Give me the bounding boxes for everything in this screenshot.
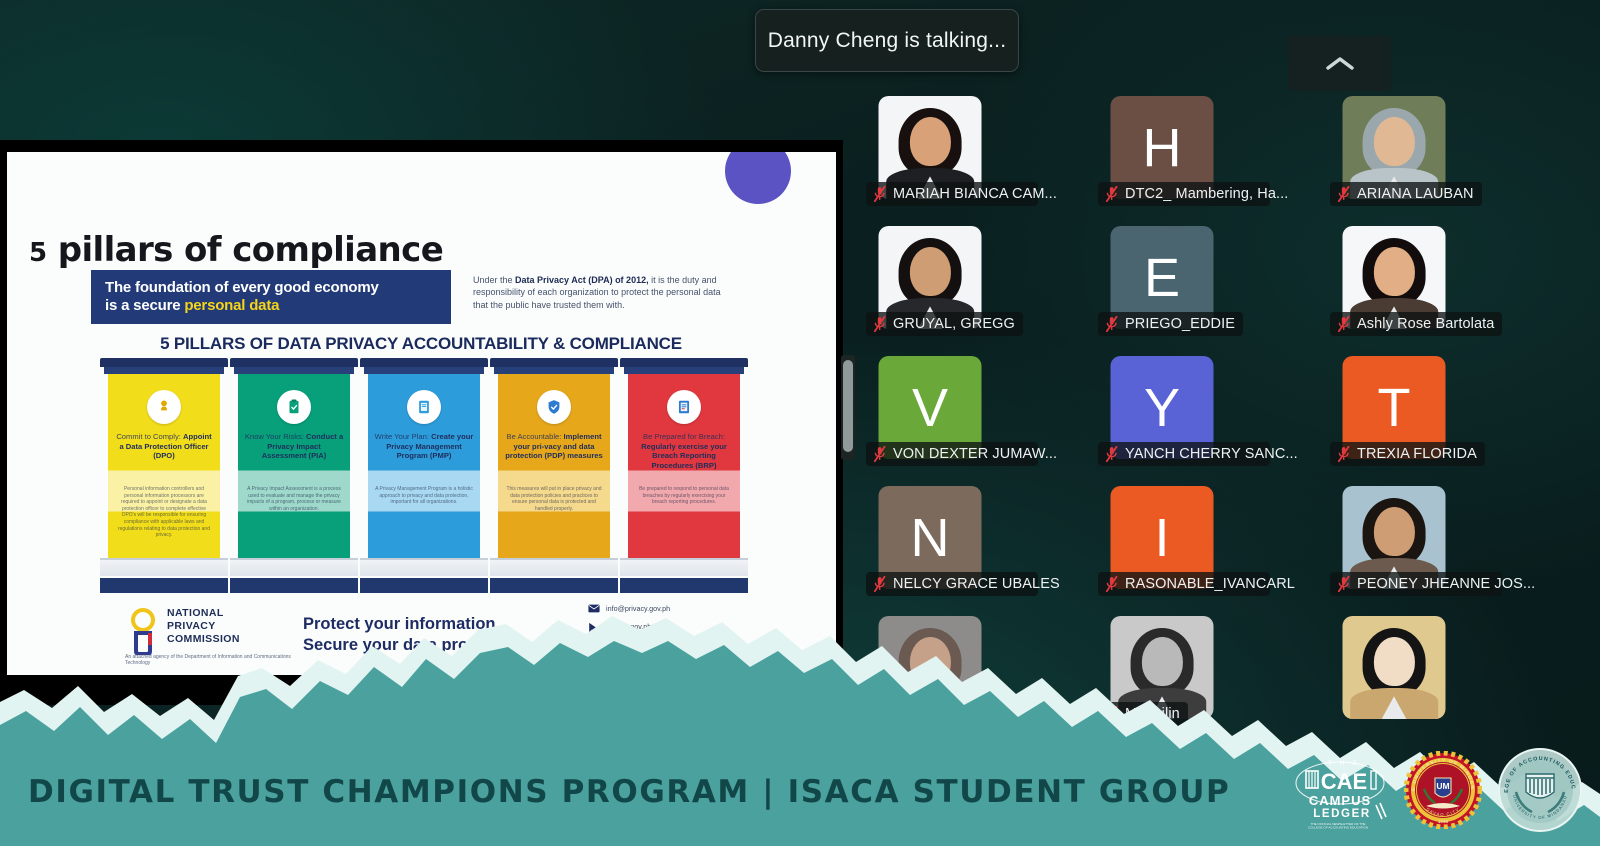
slide-banner: The foundation of every good economy is … (91, 270, 451, 324)
pillar-cap (100, 358, 228, 367)
collapse-gallery-button[interactable] (1288, 36, 1391, 91)
pillar-shaft: Commit to Comply: Appoint a Data Protect… (108, 374, 220, 560)
participant-tile[interactable]: NNELCY GRACE UBALES (866, 486, 994, 596)
pillars-container: Commit to Comply: Appoint a Data Protect… (105, 358, 755, 576)
pillar-base (360, 558, 488, 576)
participant-tile[interactable]: VVON DEXTER JUMAW... (866, 356, 994, 466)
pillar-pre-label: Write Your Plan: (375, 432, 429, 441)
college-of-accounting-education-seal: COLLEGE OF ACCOUNTING EDUCATION UNIVERSI… (1498, 748, 1582, 832)
banner-line-2: is a secure personal data (105, 297, 437, 315)
pillar-pre-label: Be Prepared for Breach: (643, 432, 725, 441)
pillar-cap-lower (234, 367, 354, 374)
participant-name-label: TREXIA FLORIDA (1357, 446, 1477, 462)
slide-decorative-circle (725, 152, 791, 204)
cae-ledger-text: LEDGER (1313, 808, 1371, 820)
screenshot-root: Danny Cheng is talking... 5 pillars of c… (0, 0, 1600, 846)
participant-tile[interactable]: ARIANA LAUBAN (1330, 96, 1458, 206)
university-of-mindanao-seal: THE UNIVERSITY OF MINDANAO DAVAO CITY UM… (1404, 751, 1482, 829)
participant-tile[interactable]: YYANCH CHERRY SANC... (1098, 356, 1226, 466)
participant-name-label: Ashly Rose Bartolata (1357, 316, 1494, 332)
cae-campus-ledger-logo: T H E CAE CAMPUS LEDGER THE OFFICIAL NEW… (1292, 749, 1388, 831)
participant-tile[interactable]: GRUYAL, GREGG (866, 226, 994, 336)
pillar-text: Be Accountable: Implement your pri-vacy … (504, 432, 604, 461)
pillar-shaft: Write Your Plan: Create your Privacy Man… (368, 374, 480, 560)
pillar-cap-lower (624, 367, 744, 374)
pillar-cap-lower (364, 367, 484, 374)
chevron-up-icon (1323, 54, 1357, 74)
person-badge-icon (147, 390, 181, 424)
pillar-shaft: Know Your Risks: Conduct a Privacy Impac… (238, 374, 350, 560)
participant-name-bar: YANCH CHERRY SANC... (1098, 442, 1270, 466)
clipboard-check-icon (277, 390, 311, 424)
pillar-main-label: Regularly exercise your Breach Reporting… (641, 442, 727, 470)
banner-line-1: The foundation of every good economy (105, 279, 437, 297)
cae-main-text: CAE (1321, 769, 1367, 794)
um-year-text: 1946 (1438, 819, 1449, 824)
participant-name-bar: VON DEXTER JUMAW... (866, 442, 1038, 466)
cae-tagline-2: COLLEGE OF ACCOUNTING EDUCATION (1308, 825, 1368, 829)
dpa-note-bold: Data Privacy Act (DPA) of 2012, (515, 275, 649, 285)
participant-tile[interactable]: IRASONABLE_IVANCARL (1098, 486, 1226, 596)
pillars-heading: 5 PILLARS OF DATA PRIVACY ACCOUNTABILITY… (91, 334, 751, 354)
pillar-text: Know Your Risks: Conduct a Privacy Impac… (244, 432, 344, 461)
participant-name-label: YANCH CHERRY SANC... (1125, 446, 1298, 462)
cae-campus-text: CAMPUS (1309, 793, 1371, 808)
pillar-shaft: Be Prepared for Breach: Regularly exerci… (628, 374, 740, 560)
cae-the-text: T H E (1328, 760, 1360, 767)
participant-name-bar: PRIEGO_EDDIE (1098, 312, 1243, 336)
pillar-pre-label: Know Your Risks: (245, 432, 304, 441)
participant-name-label: MARIAH BIANCA CAM... (893, 186, 1057, 202)
pillar-pre-label: Commit to Comply: (116, 432, 181, 441)
pillar-description: A Privacy Management Program is a holist… (375, 486, 473, 506)
pillar-cap-lower (494, 367, 614, 374)
mic-muted-icon (1336, 186, 1351, 202)
mic-muted-icon (1336, 446, 1351, 462)
participant-name-bar: MARIAH BIANCA CAM... (866, 182, 1038, 206)
mic-muted-icon (1104, 186, 1119, 202)
thumbnail-face (909, 247, 950, 296)
pillar-shaft: Be Accountable: Implement your pri-vacy … (498, 374, 610, 560)
mic-muted-icon (872, 186, 887, 202)
pillar-4: Be Accountable: Implement your pri-vacy … (495, 358, 613, 576)
banner-line-2-highlight: personal data (184, 297, 279, 314)
thumbnail-face (909, 117, 950, 166)
participant-name-bar: TREXIA FLORIDA (1330, 442, 1485, 466)
thumbnail-face (1373, 507, 1414, 556)
shield-icon (537, 390, 571, 424)
footer-band: DIGITAL TRUST CHAMPIONS PROGRAM | ISACA … (0, 726, 1600, 846)
participant-name-label: VON DEXTER JUMAW... (893, 446, 1057, 462)
pillar-cap (490, 358, 618, 367)
um-center-text: UM (1436, 781, 1449, 791)
thumbnail-face (1373, 247, 1414, 296)
mic-muted-icon (1104, 316, 1119, 332)
footer-title: DIGITAL TRUST CHAMPIONS PROGRAM | ISACA … (28, 774, 1230, 810)
active-speaker-label: Danny Cheng is talking... (768, 29, 1006, 53)
um-seal-mark: THE UNIVERSITY OF MINDANAO DAVAO CITY UM… (1404, 751, 1482, 829)
participant-name-bar: DTC2_ Mambering, Ha... (1098, 182, 1270, 206)
active-speaker-indicator: Danny Cheng is talking... (755, 9, 1019, 72)
pillar-description: This measures will put in place privacy … (505, 486, 603, 512)
pillar-cap-lower (104, 367, 224, 374)
participant-tile[interactable]: HDTC2_ Mambering, Ha... (1098, 96, 1226, 206)
pillar-5: Be Prepared for Breach: Regularly exerci… (625, 358, 743, 576)
pillar-base (100, 558, 228, 576)
pillar-description: Personal information controllers and per… (115, 486, 213, 539)
pillar-text: Commit to Comply: Appoint a Data Protect… (114, 432, 214, 461)
participant-tile[interactable]: TTREXIA FLORIDA (1330, 356, 1458, 466)
participant-name-bar: Ashly Rose Bartolata (1330, 312, 1502, 336)
coae-seal-mark: COLLEGE OF ACCOUNTING EDUCATION UNIVERSI… (1498, 748, 1582, 832)
dpa-note: Under the Data Privacy Act (DPA) of 2012… (473, 274, 723, 311)
slide-title-number: 5 (29, 238, 47, 268)
participant-name-bar: GRUYAL, GREGG (866, 312, 1023, 336)
pillar-3: Write Your Plan: Create your Privacy Man… (365, 358, 483, 576)
pillar-description: Be prepared to respond to personal data … (635, 486, 733, 506)
slide-title-text: pillars of compliance (47, 230, 444, 270)
mic-muted-icon (872, 316, 887, 332)
pillar-1: Commit to Comply: Appoint a Data Protect… (105, 358, 223, 576)
pillar-text: Be Prepared for Breach: Regularly exerci… (634, 432, 734, 470)
pillar-base (620, 558, 748, 576)
participant-name-label: GRUYAL, GREGG (893, 316, 1015, 332)
pillar-base (490, 558, 618, 576)
participant-name-label: PRIEGO_EDDIE (1125, 316, 1235, 332)
pillar-pre-label: Be Accountable: (507, 432, 562, 441)
participant-name-bar: ARIANA LAUBAN (1330, 182, 1482, 206)
shared-screen-scrollbar-thumb[interactable] (843, 360, 853, 452)
participant-tile[interactable]: Ashly Rose Bartolata (1330, 226, 1458, 336)
pillar-description: A Privacy Impact Assessment is a process… (245, 486, 343, 512)
slide-title: 5 pillars of compliance (29, 230, 443, 270)
dpa-note-pre: Under the (473, 275, 515, 285)
banner-line-2-pre: is a secure (105, 297, 184, 314)
mic-muted-icon (1336, 316, 1351, 332)
participant-tile[interactable]: MARIAH BIANCA CAM... (866, 96, 994, 206)
pillar-text: Write Your Plan: Create your Privacy Man… (374, 432, 474, 461)
pillar-cap (230, 358, 358, 367)
pillar-base (230, 558, 358, 576)
document-icon (407, 390, 441, 424)
participant-tile[interactable]: PEONEY JHEANNE JOS... (1330, 486, 1458, 596)
footer-logos: T H E CAE CAMPUS LEDGER THE OFFICIAL NEW… (1292, 748, 1582, 832)
participant-name-label: ARIANA LAUBAN (1357, 186, 1474, 202)
pillar-2: Know Your Risks: Conduct a Privacy Impac… (235, 358, 353, 576)
report-icon (667, 390, 701, 424)
cae-campus-ledger-mark: T H E CAE CAMPUS LEDGER THE OFFICIAL NEW… (1292, 749, 1388, 831)
pillar-cap (360, 358, 488, 367)
thumbnail-face (1373, 117, 1414, 166)
mic-muted-icon (872, 446, 887, 462)
mic-muted-icon (1104, 446, 1119, 462)
participant-name-label: DTC2_ Mambering, Ha... (1125, 186, 1288, 202)
participant-tile[interactable]: EPRIEGO_EDDIE (1098, 226, 1226, 336)
pillar-cap (620, 358, 748, 367)
